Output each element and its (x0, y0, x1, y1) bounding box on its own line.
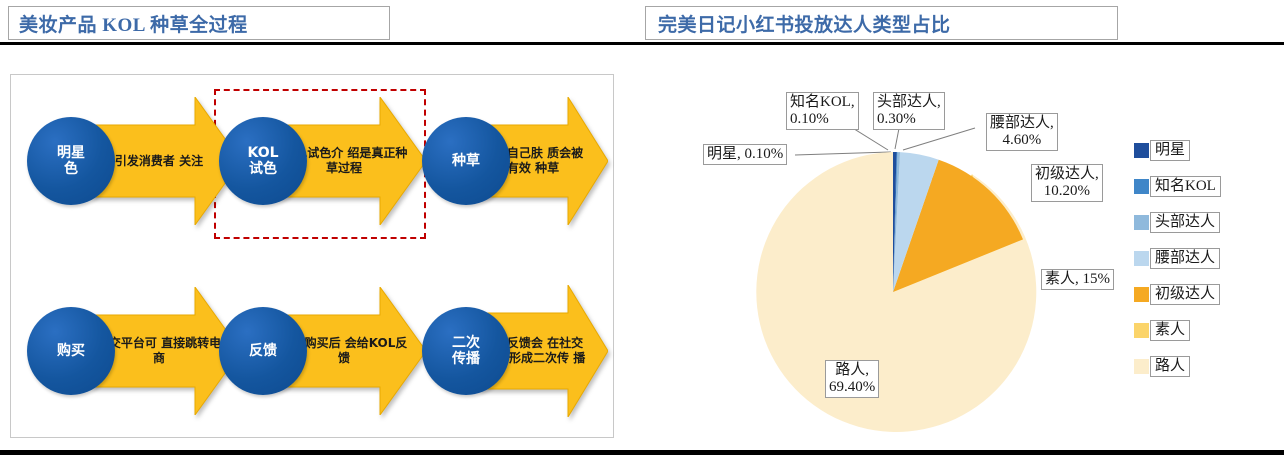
legend-swatch-suren (1134, 323, 1149, 338)
footer-divider (0, 450, 1284, 455)
data-label-toubudaren-line2: 0.30% (877, 111, 941, 128)
title-row: 美妆产品 KOL 种草全过程 完美日记小红书投放达人类型占比 (0, 0, 1284, 42)
data-label-toubudaren-line1: 头部达人, (877, 94, 941, 111)
process-diagram-panel: 引发消费者 关注 明星 色 KOL试色介 绍是真正种 草过程 KOL 试色 (10, 74, 614, 438)
header-divider (0, 42, 1284, 45)
data-label-mingxing: 明星, 0.10% (703, 144, 787, 165)
node-1-line-2: 色 (57, 161, 85, 177)
process-node-mingxingse[interactable]: 明星 色 (27, 117, 115, 205)
left-panel-title: 美妆产品 KOL 种草全过程 (8, 6, 390, 40)
data-label-suren-text: 素人, 15% (1045, 271, 1110, 287)
legend-swatch-zhimingkol (1134, 179, 1149, 194)
legend-swatch-toubudaren (1134, 215, 1149, 230)
data-label-zhimingkol-line2: 0.10% (790, 111, 855, 128)
legend-item-toubudaren[interactable]: 头部达人 (1134, 210, 1279, 235)
legend-swatch-chujidaren (1134, 287, 1149, 302)
data-label-zhimingkol: 知名KOL, 0.10% (786, 92, 859, 130)
data-label-yaobudaren-line1: 腰部达人, (990, 115, 1054, 132)
legend-item-yaobudaren[interactable]: 腰部达人 (1134, 246, 1279, 271)
node-1-line-1: 明星 (57, 145, 85, 161)
legend-label-toubudaren: 头部达人 (1150, 212, 1220, 233)
process-node-goumai[interactable]: 购买 (27, 307, 115, 395)
chart-legend: 明星 知名KOL 头部达人 腰部达人 初级达人 素人 路人 (1134, 138, 1279, 390)
data-label-chujidaren: 初级达人, 10.20% (1031, 164, 1103, 202)
node-3-line-1: 种草 (452, 153, 480, 169)
node-6-line-2: 传播 (452, 351, 480, 367)
legend-swatch-luren (1134, 359, 1149, 374)
process-node-zhongcao[interactable]: 种草 (422, 117, 510, 205)
legend-swatch-yaobudaren (1134, 251, 1149, 266)
right-panel-title: 完美日记小红书投放达人类型占比 (645, 6, 1118, 40)
node-5-line-1: 反馈 (249, 343, 277, 359)
legend-item-chujidaren[interactable]: 初级达人 (1134, 282, 1279, 307)
legend-label-chujidaren: 初级达人 (1150, 284, 1220, 305)
data-label-mingxing-text: 明星, 0.10% (707, 146, 783, 162)
process-node-kolshise[interactable]: KOL 试色 (219, 117, 307, 205)
data-label-chujidaren-line1: 初级达人, (1035, 166, 1099, 183)
data-label-zhimingkol-line1: 知名KOL, (790, 94, 855, 111)
data-label-suren: 素人, 15% (1041, 269, 1114, 290)
data-label-yaobudaren-line2: 4.60% (990, 132, 1054, 149)
node-6-line-1: 二次 (452, 335, 480, 351)
legend-label-suren: 素人 (1150, 320, 1190, 341)
data-label-toubudaren: 头部达人, 0.30% (873, 92, 945, 130)
process-node-erciChuanbo[interactable]: 二次 传播 (422, 307, 510, 395)
legend-item-mingxing[interactable]: 明星 (1134, 138, 1279, 163)
node-2-line-2: 试色 (247, 161, 278, 177)
legend-label-mingxing: 明星 (1150, 140, 1190, 161)
data-label-luren: 路人, 69.40% (825, 360, 879, 398)
legend-item-suren[interactable]: 素人 (1134, 318, 1279, 343)
legend-item-zhimingkol[interactable]: 知名KOL (1134, 174, 1279, 199)
pie-slices (756, 152, 1036, 432)
legend-item-luren[interactable]: 路人 (1134, 354, 1279, 379)
data-label-yaobudaren: 腰部达人, 4.60% (986, 113, 1058, 151)
node-4-line-1: 购买 (57, 343, 85, 359)
pie-chart-panel: 明星, 0.10% 知名KOL, 0.10% 头部达人, 0.30% 腰部达人,… (645, 50, 1284, 448)
data-label-luren-line1: 路人, (829, 362, 875, 379)
node-2-line-1: KOL (247, 145, 278, 161)
legend-swatch-mingxing (1134, 143, 1149, 158)
legend-label-luren: 路人 (1150, 356, 1190, 377)
data-label-luren-line2: 69.40% (829, 379, 875, 396)
legend-label-zhimingkol: 知名KOL (1150, 176, 1221, 197)
data-label-chujidaren-line2: 10.20% (1035, 183, 1099, 200)
process-node-fankui[interactable]: 反馈 (219, 307, 307, 395)
legend-label-yaobudaren: 腰部达人 (1150, 248, 1220, 269)
